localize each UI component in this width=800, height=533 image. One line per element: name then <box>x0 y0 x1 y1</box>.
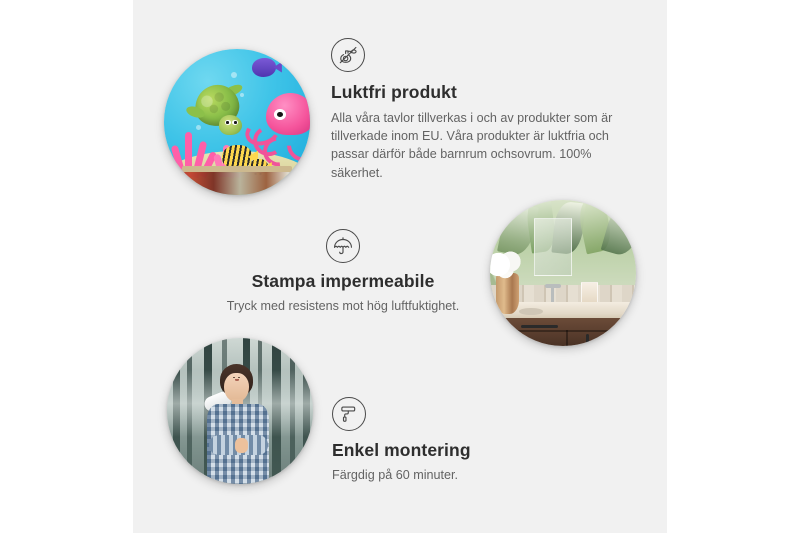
feature-block-waterproof: Stampa impermeabile Tryck med resistens … <box>198 229 488 315</box>
bathroom-tropical-wallpaper-photo <box>490 200 636 346</box>
feature-title: Enkel montering <box>332 440 622 462</box>
feature-block-easy-mounting: Enkel montering Färgdig på 60 minuter. <box>332 397 622 484</box>
feature-icon-wrap <box>331 38 631 72</box>
screenshot-stage: Luktfri produkt Alla våra tavlor tillver… <box>0 0 800 533</box>
blue-fish <box>252 58 277 77</box>
feature-body: Färgdig på 60 minuter. <box>332 466 622 484</box>
no-odor-perfume-icon <box>331 38 365 72</box>
vanity-cabinet <box>502 318 636 346</box>
woman-figure <box>199 364 281 484</box>
umbrella-icon <box>326 229 360 263</box>
feature-icon-wrap <box>198 229 488 263</box>
underwater-cartoon-photo <box>164 49 310 195</box>
floor-strip <box>164 172 310 195</box>
woman-paint-roller-forest-photo <box>167 338 313 484</box>
feature-title: Stampa impermeabile <box>198 271 488 293</box>
feature-icon-wrap <box>332 397 622 431</box>
feature-title: Luktfri produkt <box>331 82 631 104</box>
paint-roller-icon <box>332 397 366 431</box>
vase <box>496 273 519 314</box>
flowers <box>490 250 525 279</box>
feature-body: Tryck med resistens mot hög luftfuktighe… <box>198 297 488 315</box>
feature-body: Alla våra tavlor tillverkas i och av pro… <box>331 109 631 182</box>
feature-block-odourless: Luktfri produkt Alla våra tavlor tillver… <box>331 38 631 182</box>
mirror <box>534 218 572 276</box>
